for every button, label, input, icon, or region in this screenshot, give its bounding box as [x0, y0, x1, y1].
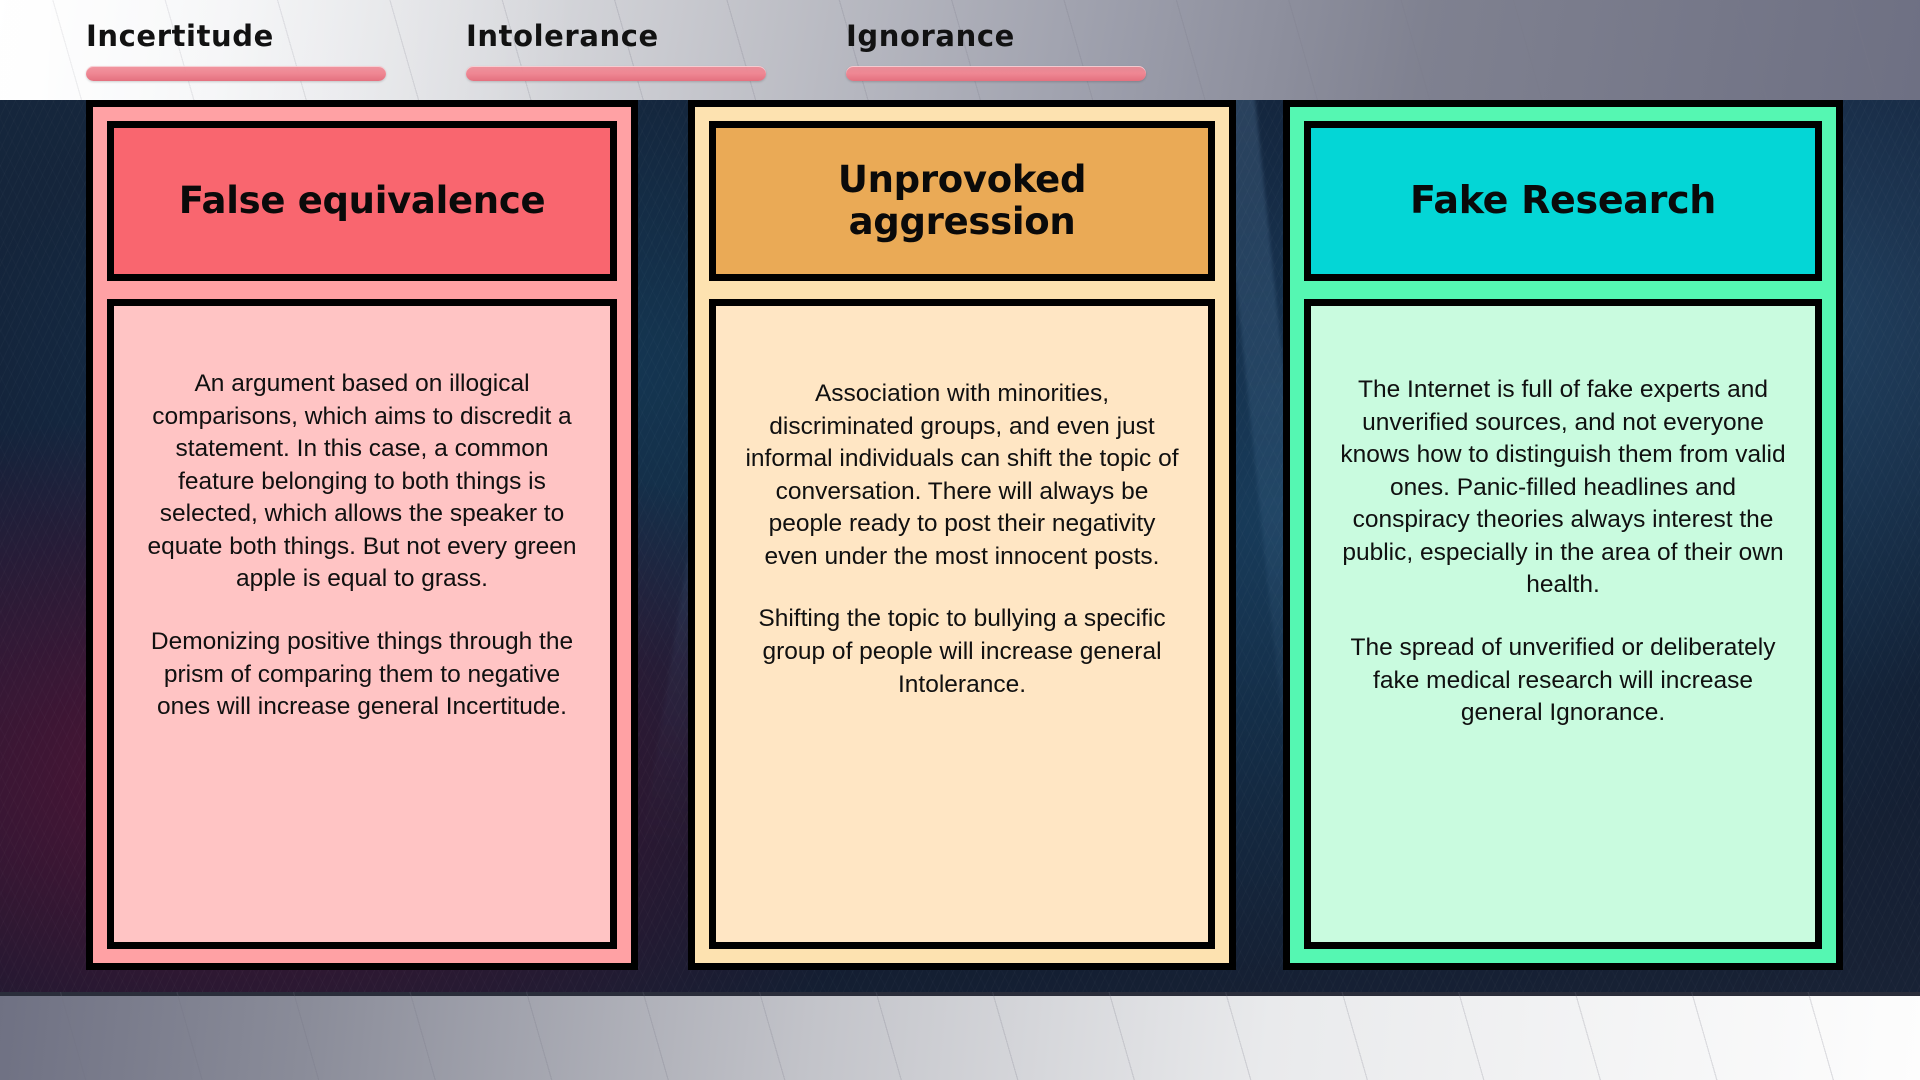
card-intolerance[interactable]: Unprovoked aggression Association with m…: [688, 100, 1236, 970]
card-incertitude-body: An argument based on illogical compariso…: [107, 299, 617, 949]
header-bar-intolerance: [466, 66, 766, 81]
card-incertitude-paragraph-1: An argument based on illogical compariso…: [140, 368, 584, 596]
card-intolerance-title: Unprovoked aggression: [730, 159, 1194, 243]
header-label-ignorance: Ignorance: [846, 22, 1146, 51]
header-item-ignorance[interactable]: Ignorance: [846, 22, 1146, 81]
card-incertitude-title: False equivalence: [179, 180, 546, 222]
card-intolerance-header: Unprovoked aggression: [709, 121, 1215, 281]
footer-band: [0, 992, 1920, 1080]
header-item-incertitude[interactable]: Incertitude: [86, 22, 386, 81]
header-bar-incertitude: [86, 66, 386, 81]
card-ignorance[interactable]: Fake Research The Internet is full of fa…: [1283, 100, 1843, 970]
card-ignorance-paragraph-2: The spread of unverified or deliberately…: [1337, 632, 1789, 730]
header-label-incertitude: Incertitude: [86, 22, 386, 51]
slide-root: Incertitude Intolerance Ignorance False …: [0, 0, 1920, 1080]
card-incertitude-header: False equivalence: [107, 121, 617, 281]
header-band: Incertitude Intolerance Ignorance: [0, 0, 1920, 100]
card-ignorance-body: The Internet is full of fake experts and…: [1304, 299, 1822, 949]
card-ignorance-title: Fake Research: [1410, 179, 1716, 222]
card-intolerance-paragraph-2: Shifting the topic to bullying a specifi…: [742, 603, 1182, 701]
header-label-intolerance: Intolerance: [466, 22, 766, 51]
card-intolerance-body: Association with minorities, discriminat…: [709, 299, 1215, 949]
card-ignorance-header: Fake Research: [1304, 121, 1822, 281]
card-ignorance-paragraph-1: The Internet is full of fake experts and…: [1337, 374, 1789, 602]
card-intolerance-paragraph-1: Association with minorities, discriminat…: [742, 378, 1182, 573]
header-bar-ignorance: [846, 66, 1146, 81]
card-incertitude-paragraph-2: Demonizing positive things through the p…: [140, 626, 584, 724]
card-incertitude[interactable]: False equivalence An argument based on i…: [86, 100, 638, 970]
footer-band-lines: [0, 992, 1920, 1080]
header-item-intolerance[interactable]: Intolerance: [466, 22, 766, 81]
